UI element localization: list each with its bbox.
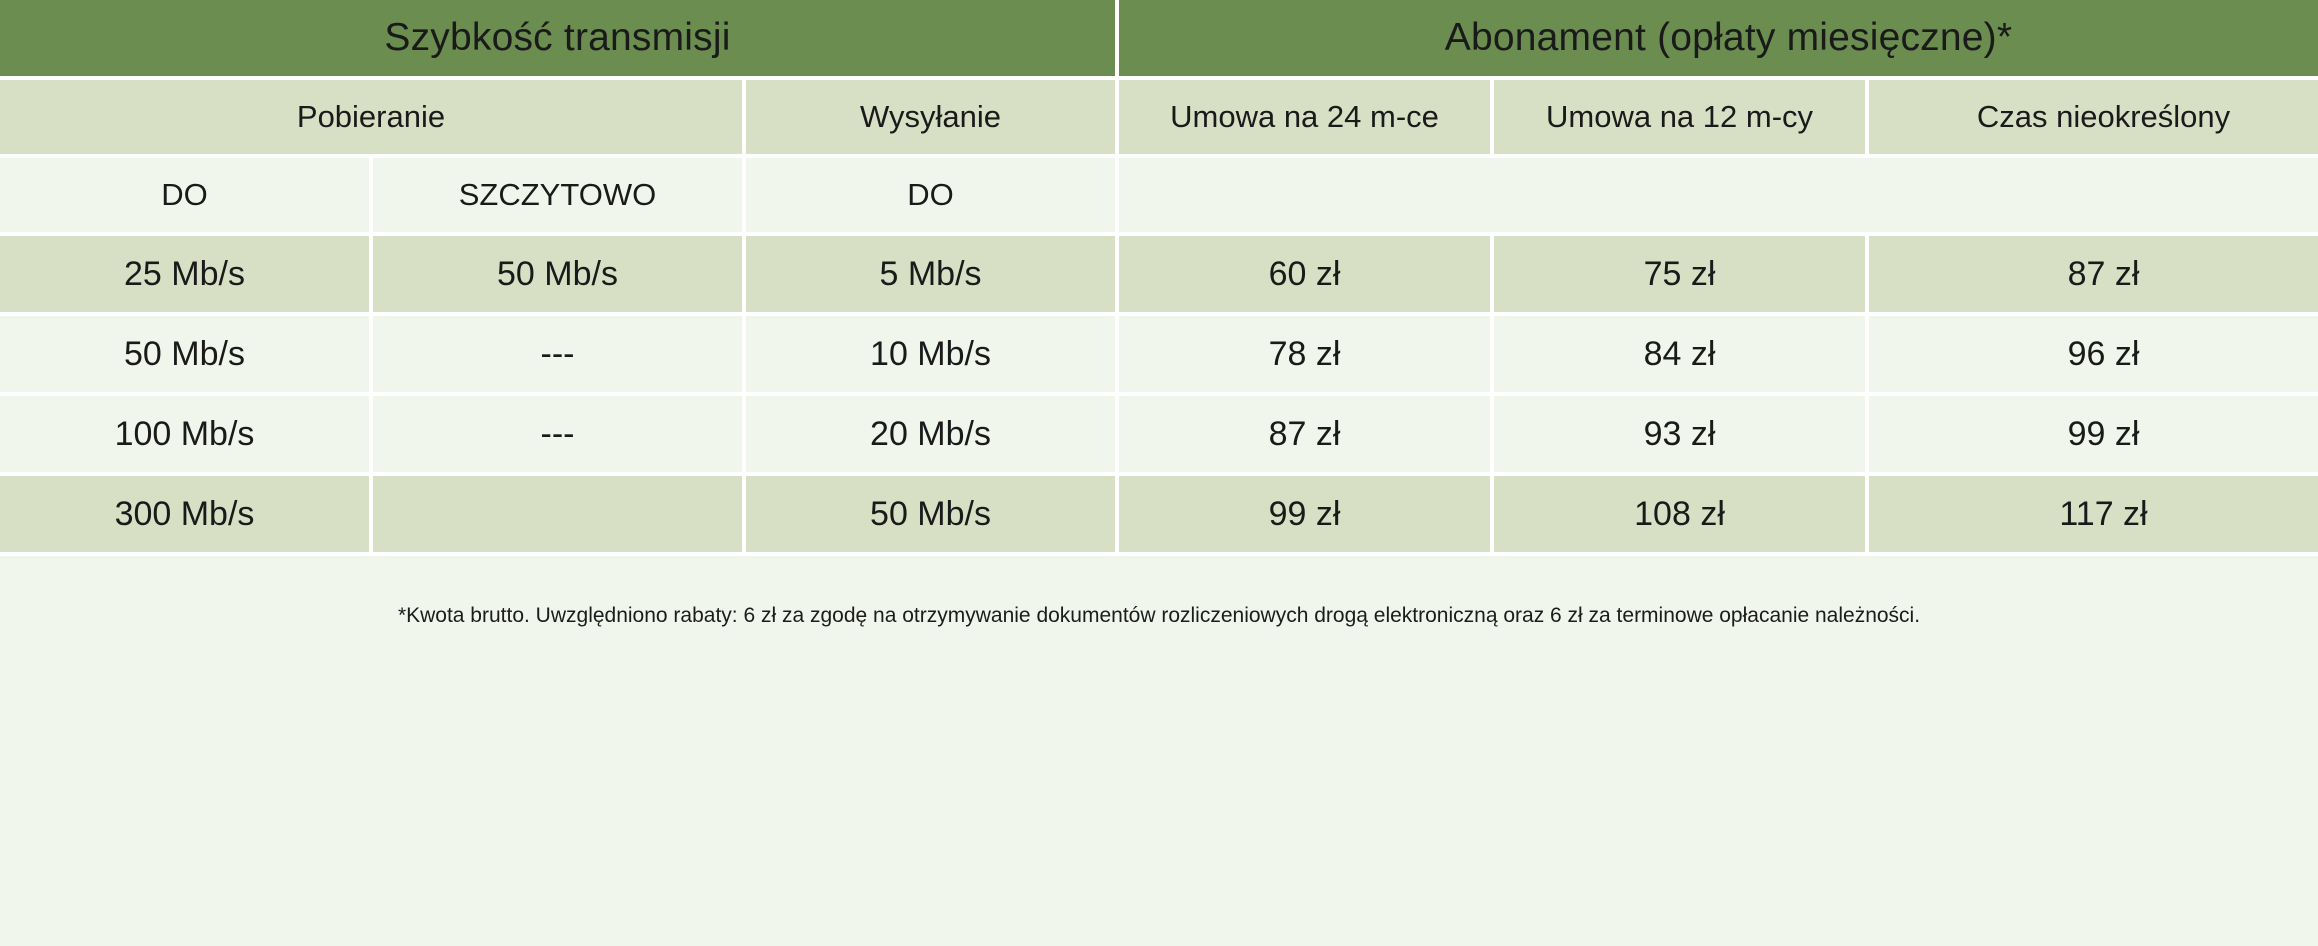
cell-upload-max: 5 Mb/s <box>746 236 1115 312</box>
cell-price-12m: 108 zł <box>1494 476 1865 552</box>
cell-upload-max: 20 Mb/s <box>746 396 1115 472</box>
cell-download-peak <box>373 476 742 552</box>
tertiary-header-row: DO SZCZYTOWO DO <box>0 158 2318 232</box>
cell-download-max: 25 Mb/s <box>0 236 369 312</box>
cell-price-24m: 78 zł <box>1119 316 1490 392</box>
cell-price-12m: 75 zł <box>1494 236 1865 312</box>
cell-download-peak: --- <box>373 316 742 392</box>
column-header-download: Pobieranie <box>0 80 742 154</box>
table-footnote: *Kwota brutto. Uwzględniono rabaty: 6 zł… <box>0 556 2318 676</box>
column-header-indefinite: Czas nieokreślony <box>1869 80 2318 154</box>
sub-header-row: Pobieranie Wysyłanie Umowa na 24 m-ce Um… <box>0 80 2318 154</box>
column-header-download-peak: SZCZYTOWO <box>373 158 742 232</box>
table-head: Szybkość transmisji Abonament (opłaty mi… <box>0 0 2318 232</box>
cell-upload-max: 10 Mb/s <box>746 316 1115 392</box>
group-header-row: Szybkość transmisji Abonament (opłaty mi… <box>0 0 2318 76</box>
cell-upload-max: 50 Mb/s <box>746 476 1115 552</box>
cell-download-peak: 50 Mb/s <box>373 236 742 312</box>
group-header-subscription: Abonament (opłaty miesięczne)* <box>1119 0 2318 76</box>
cell-price-12m: 93 zł <box>1494 396 1865 472</box>
table-row: 100 Mb/s --- 20 Mb/s 87 zł 93 zł 99 zł <box>0 396 2318 472</box>
column-header-contract-12m: Umowa na 12 m-cy <box>1494 80 1865 154</box>
cell-price-24m: 87 zł <box>1119 396 1490 472</box>
table-row: 50 Mb/s --- 10 Mb/s 78 zł 84 zł 96 zł <box>0 316 2318 392</box>
cell-download-max: 300 Mb/s <box>0 476 369 552</box>
cell-download-max: 100 Mb/s <box>0 396 369 472</box>
column-header-download-max: DO <box>0 158 369 232</box>
column-header-upload: Wysyłanie <box>746 80 1115 154</box>
table-body: 25 Mb/s 50 Mb/s 5 Mb/s 60 zł 75 zł 87 zł… <box>0 236 2318 552</box>
group-header-transmission-speed: Szybkość transmisji <box>0 0 1115 76</box>
cell-price-indefinite: 87 zł <box>1869 236 2318 312</box>
cell-price-24m: 99 zł <box>1119 476 1490 552</box>
cell-download-max: 50 Mb/s <box>0 316 369 392</box>
cell-price-indefinite: 117 zł <box>1869 476 2318 552</box>
column-header-contract-24m: Umowa na 24 m-ce <box>1119 80 1490 154</box>
internet-pricing-table: Szybkość transmisji Abonament (opłaty mi… <box>0 0 2318 556</box>
pricing-table-page: Szybkość transmisji Abonament (opłaty mi… <box>0 0 2318 946</box>
cell-download-peak: --- <box>373 396 742 472</box>
column-header-price-spacer <box>1119 158 2318 232</box>
column-header-upload-max: DO <box>746 158 1115 232</box>
table-row: 300 Mb/s 50 Mb/s 99 zł 108 zł 117 zł <box>0 476 2318 552</box>
table-row: 25 Mb/s 50 Mb/s 5 Mb/s 60 zł 75 zł 87 zł <box>0 236 2318 312</box>
cell-price-12m: 84 zł <box>1494 316 1865 392</box>
cell-price-indefinite: 96 zł <box>1869 316 2318 392</box>
cell-price-24m: 60 zł <box>1119 236 1490 312</box>
cell-price-indefinite: 99 zł <box>1869 396 2318 472</box>
